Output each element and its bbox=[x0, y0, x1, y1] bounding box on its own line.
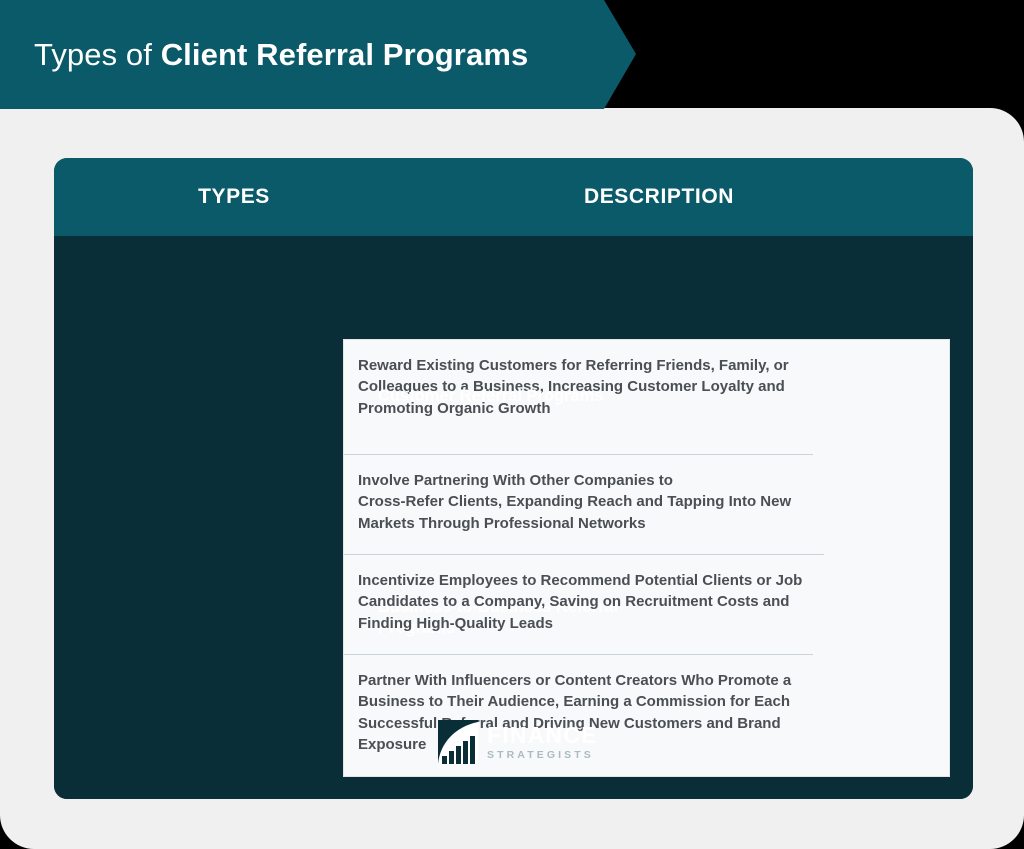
page-title-light: Types of bbox=[34, 37, 161, 72]
row-type-text: Customer Referral Programs bbox=[378, 386, 604, 407]
row-description: Incentivize Employees to Recommend Poten… bbox=[344, 554, 824, 654]
table-row: Affiliate Referral Programs Partner With… bbox=[344, 654, 949, 776]
table-row: Employee Referral Programs Incentivize E… bbox=[344, 554, 949, 654]
types-table-card: TYPES DESCRIPTION Customer Referral Prog… bbox=[54, 158, 973, 799]
column-header-types: TYPES bbox=[114, 158, 354, 236]
logo-primary-text: FINANCE bbox=[487, 724, 598, 747]
logo-wordmark: FINANCE STRATEGISTS bbox=[487, 724, 598, 761]
row-description: Involve Partnering With Other Companies … bbox=[344, 454, 813, 554]
page-title: Types of Client Referral Programs bbox=[0, 37, 528, 73]
table-row: Business-to-Business Referral Programs I… bbox=[344, 454, 949, 554]
title-banner: Types of Client Referral Programs bbox=[0, 0, 636, 109]
table-body: Customer Referral Programs Reward Existi… bbox=[54, 236, 973, 799]
description-panel: Customer Referral Programs Reward Existi… bbox=[343, 339, 950, 777]
brand-logo: FINANCE STRATEGISTS bbox=[438, 720, 598, 764]
row-type-label: Customer Referral Programs bbox=[378, 340, 628, 454]
logo-secondary-text: STRATEGISTS bbox=[487, 750, 598, 761]
finance-strategists-chart-logo-icon bbox=[438, 720, 478, 764]
table-header-row: TYPES DESCRIPTION bbox=[54, 158, 973, 236]
column-header-description: DESCRIPTION bbox=[434, 158, 884, 236]
table-row: Customer Referral Programs Reward Existi… bbox=[344, 340, 949, 454]
page-title-bold: Client Referral Programs bbox=[161, 37, 529, 72]
infographic-root: Types of Client Referral Programs TYPES … bbox=[0, 0, 1024, 849]
